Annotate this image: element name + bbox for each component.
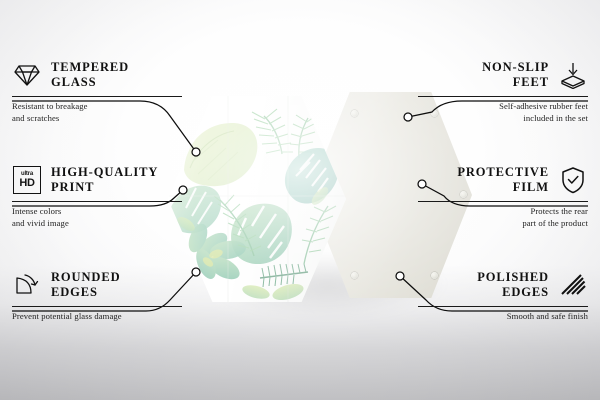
feature-header: ultra HD HIGH-QUALITY PRINT	[12, 163, 182, 197]
diamond-icon	[12, 60, 42, 90]
feature-title: HIGH-QUALITY PRINT	[51, 165, 158, 196]
feature-divider	[12, 306, 182, 307]
hatch-triangle-icon	[558, 270, 588, 300]
feature-header: NON-SLIP FEET	[418, 58, 588, 92]
rubber-foot	[351, 110, 358, 117]
feature-description: Protects the rear part of the product	[418, 206, 588, 230]
feature-title: TEMPERED GLASS	[51, 60, 129, 91]
feature-title: POLISHED EDGES	[477, 270, 549, 301]
product-infographic: TEMPERED GLASS Resistant to breakage and…	[0, 0, 600, 400]
feature-header: PROTECTIVE FILM	[418, 163, 588, 197]
ultra-hd-icon-bottom-text: HD	[19, 178, 34, 189]
feature-high-quality-print: ultra HD HIGH-QUALITY PRINT Intense colo…	[12, 163, 182, 230]
feature-header: POLISHED EDGES	[418, 268, 588, 302]
feature-protective-film: PROTECTIVE FILM Protects the rear part o…	[418, 163, 588, 230]
feature-divider	[418, 201, 588, 202]
rubber-foot	[351, 272, 358, 279]
feature-title: NON-SLIP FEET	[482, 60, 549, 91]
ultra-hd-icon: ultra HD	[12, 165, 42, 195]
feature-description: Resistant to breakage and scratches	[12, 101, 182, 125]
feature-title: ROUNDED EDGES	[51, 270, 121, 301]
feature-divider	[418, 96, 588, 97]
feature-divider	[418, 306, 588, 307]
feature-header: ROUNDED EDGES	[12, 268, 182, 302]
rounded-corner-icon	[12, 270, 42, 300]
feature-description: Smooth and safe finish	[418, 311, 588, 323]
press-pad-icon	[558, 60, 588, 90]
feature-description: Self-adhesive rubber feet included in th…	[418, 101, 588, 125]
feature-divider	[12, 96, 182, 97]
feature-header: TEMPERED GLASS	[12, 58, 182, 92]
feature-description: Prevent potential glass damage	[12, 311, 182, 323]
feature-non-slip-feet: NON-SLIP FEET Self-adhesive rubber feet …	[418, 58, 588, 125]
feature-rounded-edges: ROUNDED EDGES Prevent potential glass da…	[12, 268, 182, 323]
feature-polished-edges: POLISHED EDGES Smooth and safe finish	[418, 268, 588, 323]
feature-description: Intense colors and vivid image	[12, 206, 182, 230]
feature-title: PROTECTIVE FILM	[457, 165, 549, 196]
feature-divider	[12, 201, 182, 202]
feature-tempered-glass: TEMPERED GLASS Resistant to breakage and…	[12, 58, 182, 125]
shield-check-icon	[558, 165, 588, 195]
